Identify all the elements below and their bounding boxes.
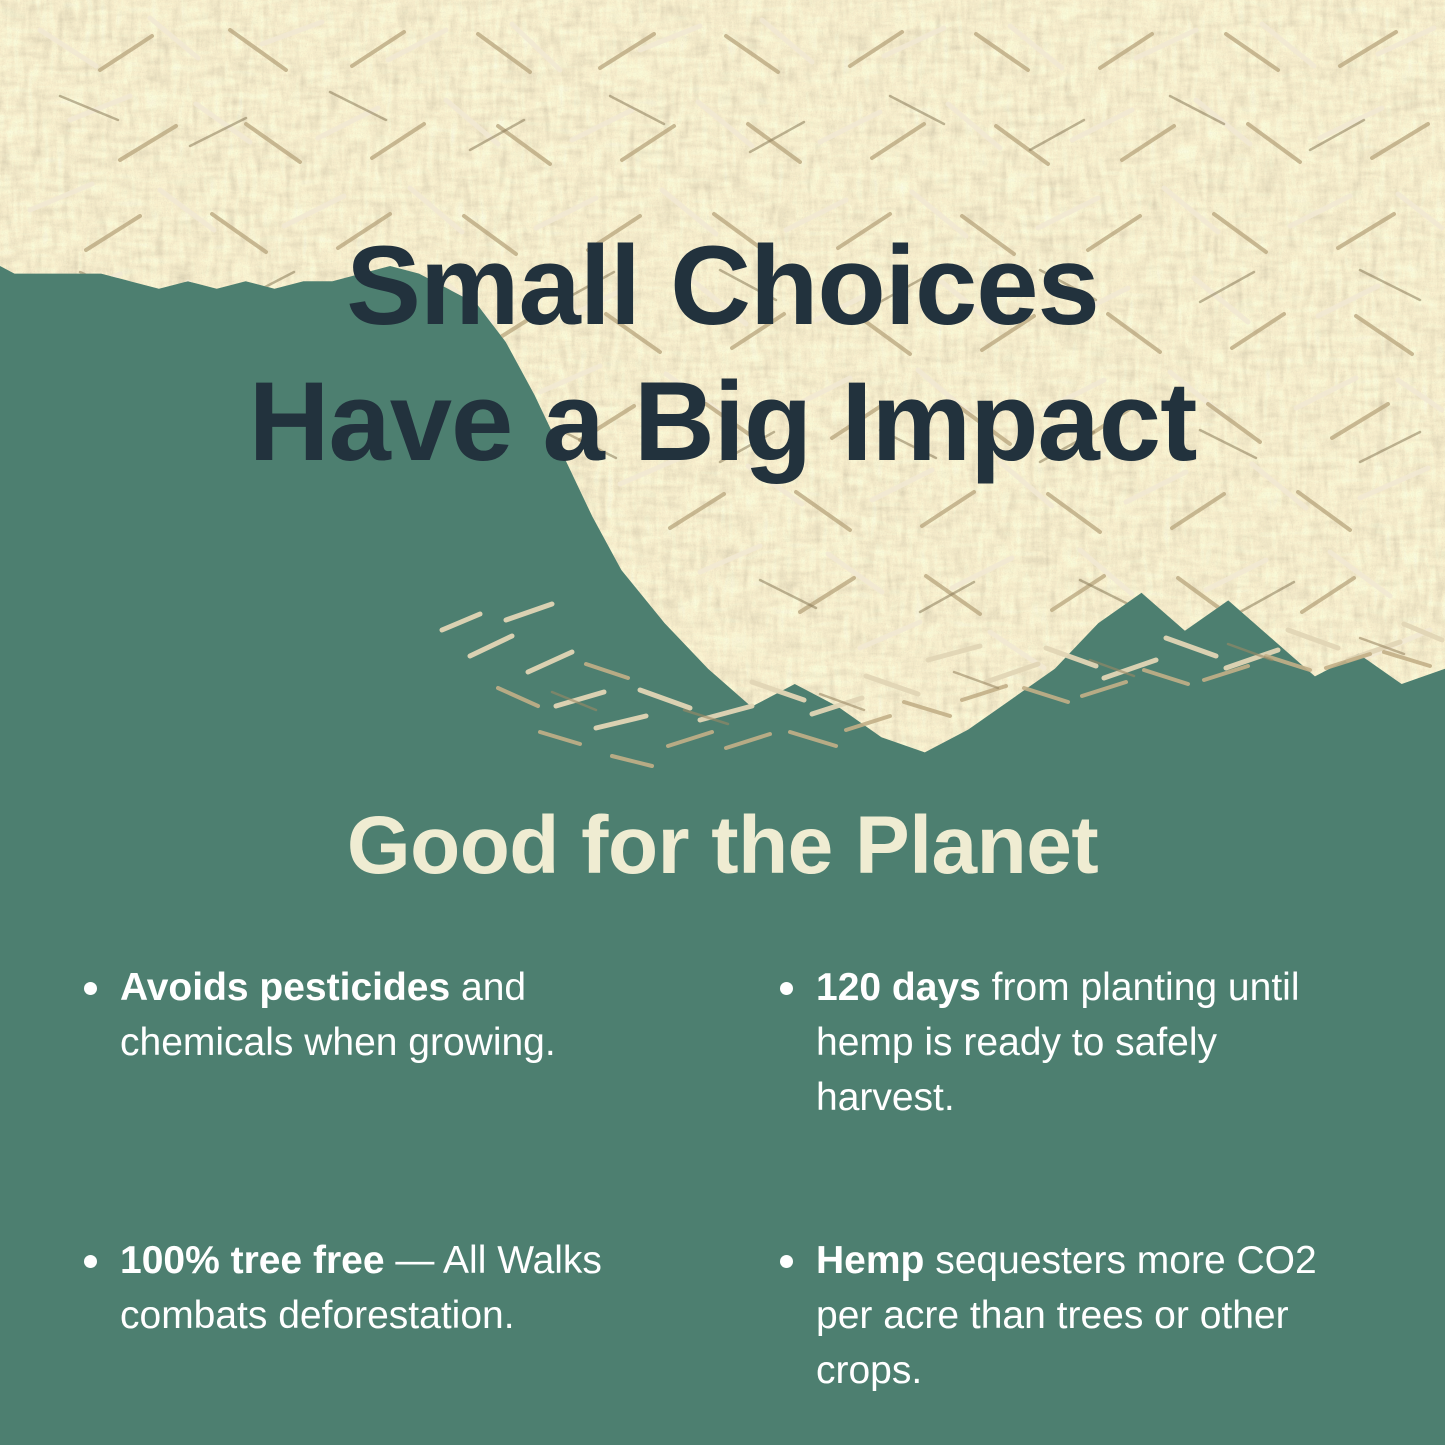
list-item: 120 days from planting until hemp is rea… (768, 960, 1328, 1125)
bullet-lead: 120 days (816, 966, 981, 1009)
headline-line-1: Small Choices (0, 218, 1445, 354)
bullet-lead: Avoids pesticides (120, 966, 450, 1009)
section-subheading: Good for the Planet (0, 798, 1445, 894)
bullet-lead: 100% tree free (120, 1239, 385, 1282)
benefits-list: Avoids pesticides and chemicals when gro… (72, 960, 1382, 1398)
headline-line-2: Have a Big Impact (0, 354, 1445, 490)
promo-poster: Small Choices Have a Big Impact Good for… (0, 0, 1445, 1445)
bullet-dot-icon (84, 1255, 97, 1268)
bullet-lead: Hemp (816, 1239, 924, 1282)
bullet-dot-icon (780, 1255, 793, 1268)
page-title: Small Choices Have a Big Impact (0, 218, 1445, 490)
bullet-dot-icon (780, 982, 793, 995)
list-item: 100% tree free — All Walks combats defor… (72, 1233, 632, 1398)
list-item: Hemp sequesters more CO2 per acre than t… (768, 1233, 1328, 1398)
list-item: Avoids pesticides and chemicals when gro… (72, 960, 632, 1125)
bullet-dot-icon (84, 982, 97, 995)
